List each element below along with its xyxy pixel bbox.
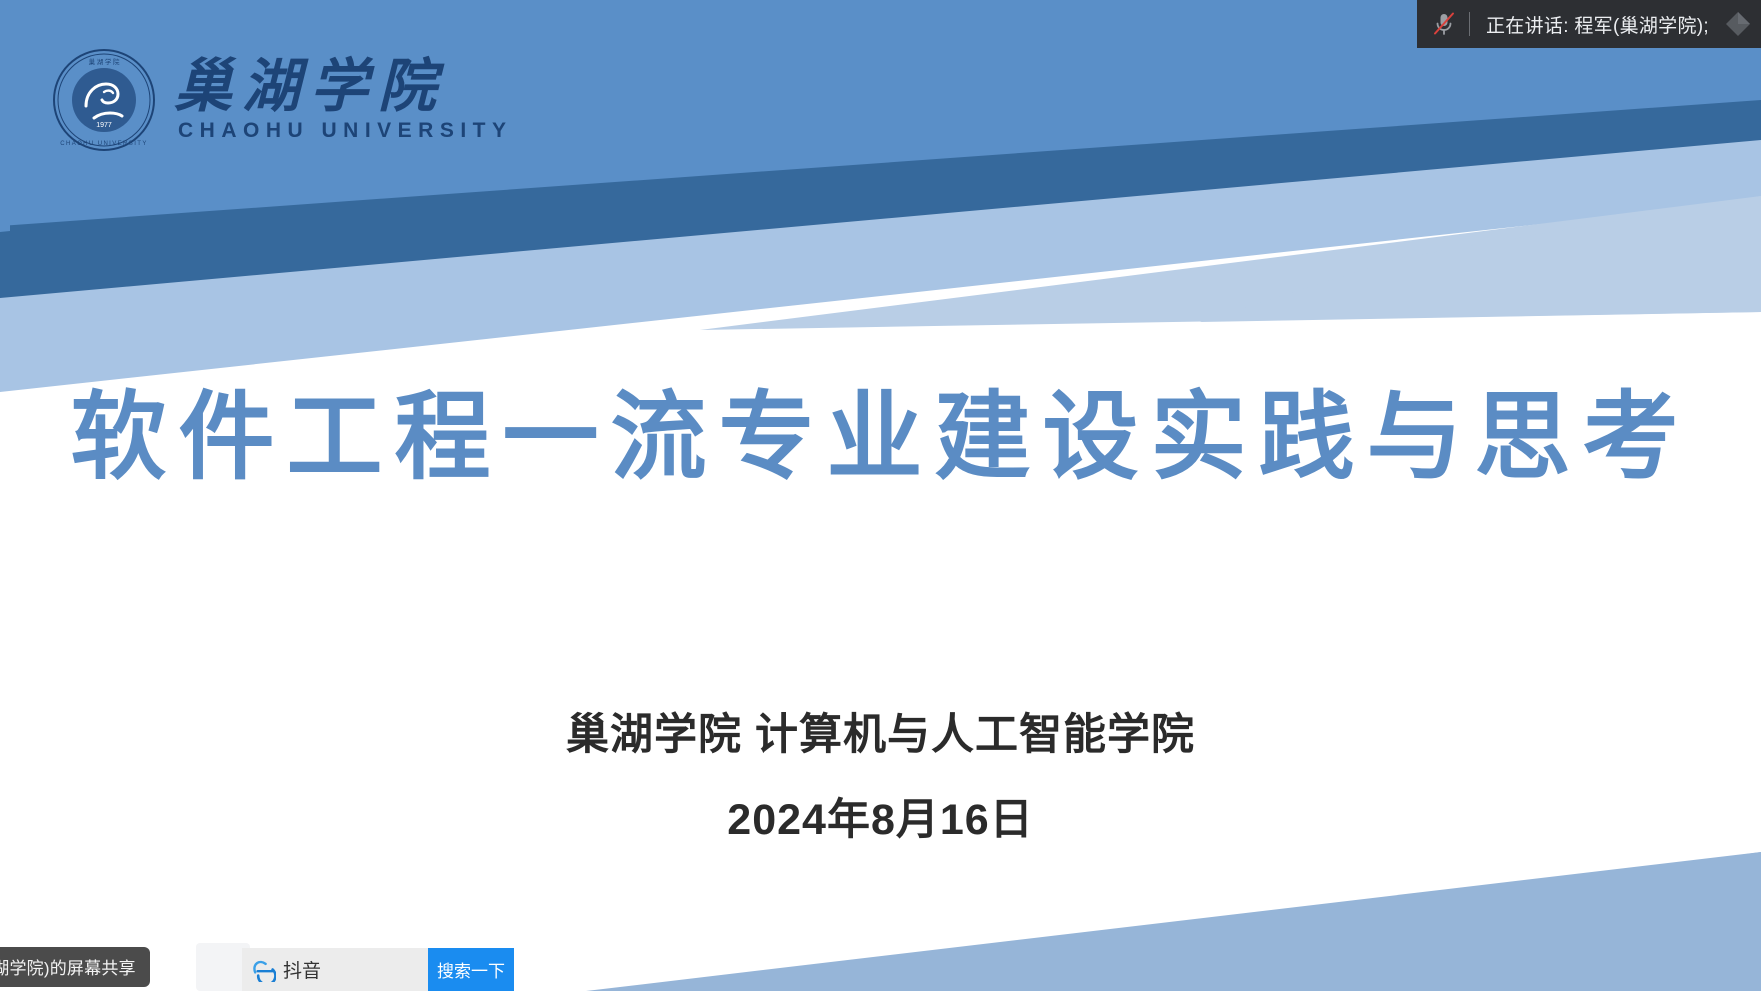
- slide-organization: 巢湖学院 计算机与人工智能学院: [0, 700, 1761, 762]
- slide-title: 软件工程一流专业建设实践与思考: [0, 384, 1761, 492]
- internet-explorer-icon: [252, 958, 276, 982]
- slide-date: 2024年8月16日: [0, 785, 1761, 847]
- logo-name-cn: 巢湖学院: [174, 57, 513, 116]
- logo-wordmark: 巢湖学院 CHAOHU UNIVERSITY: [174, 57, 513, 142]
- university-seal-icon: 1977 巢 湖 学 院 CHAOHU UNIVERSITY: [52, 48, 156, 152]
- svg-text:巢 湖 学 院: 巢 湖 学 院: [89, 57, 120, 66]
- diamond-more-icon[interactable]: [1723, 9, 1753, 39]
- university-logo: 1977 巢 湖 学 院 CHAOHU UNIVERSITY 巢湖学院 CHAO…: [52, 48, 513, 152]
- speaking-bar-divider: [1469, 12, 1470, 36]
- screen-share-view: 1977 巢 湖 学 院 CHAOHU UNIVERSITY 巢湖学院 CHAO…: [0, 0, 1761, 991]
- search-button[interactable]: 搜索一下: [428, 948, 514, 991]
- speaking-label: 正在讲话: 程军(巢湖学院);: [1486, 11, 1709, 38]
- search-query-text: 抖音: [283, 956, 321, 983]
- svg-text:1977: 1977: [96, 122, 112, 129]
- ime-indicator: 中: [0, 47, 1, 68]
- search-bar: 抖音 搜索一下: [242, 948, 514, 991]
- svg-text:CHAOHU UNIVERSITY: CHAOHU UNIVERSITY: [60, 141, 147, 147]
- presentation-slide: 1977 巢 湖 学 院 CHAOHU UNIVERSITY 巢湖学院 CHAO…: [0, 0, 1761, 991]
- microphone-muted-icon[interactable]: [1431, 11, 1457, 37]
- screen-share-tooltip: 军(巢湖学院)的屏幕共享: [0, 947, 150, 987]
- browser-search-widget: 抖音 搜索一下: [196, 929, 516, 991]
- speaking-status-bar[interactable]: 正在讲话: 程军(巢湖学院);: [1414, 0, 1761, 48]
- logo-name-en: CHAOHU UNIVERSITY: [174, 119, 513, 143]
- search-input[interactable]: 抖音: [242, 948, 428, 991]
